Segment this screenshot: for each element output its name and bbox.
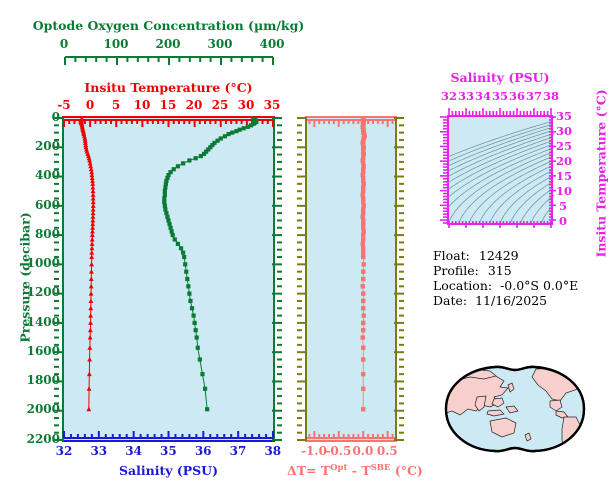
metadata-profile-value: 315	[483, 263, 512, 278]
temperature-tick-8: 35	[259, 98, 285, 112]
dt-axis-title: ΔT= TOpt - TSBE (°C)	[287, 463, 415, 478]
dt-title-part2: - T	[347, 463, 370, 478]
oxygen-tick-0: 0	[51, 37, 77, 51]
metadata-location-value: -0.0°S 0.0°E	[496, 278, 578, 293]
dt-panel-bottom-axis	[305, 440, 397, 442]
ts-salinity-ticklabels: 32 33 34 35 36 37 38	[449, 89, 551, 104]
oxygen-axis-ruler	[64, 55, 274, 67]
metadata-date-label: Date:	[433, 293, 467, 308]
ts-temp-tick-5: 10	[556, 184, 572, 198]
main-profile-traces[interactable]	[64, 118, 273, 440]
ts-temp-tick-1: 30	[556, 124, 572, 138]
oxygen-profile-trace	[162, 117, 258, 412]
dt-profile-trace[interactable]	[307, 118, 395, 440]
salinity-tick-4: 36	[190, 444, 216, 458]
world-map[interactable]	[432, 355, 598, 463]
salinity-axis-title: Salinity (PSU)	[64, 463, 273, 478]
oxygen-tick-1: 100	[103, 37, 129, 51]
dt-tick-3: 0.5	[371, 444, 403, 458]
temperature-axis-ticklabels: -5 0 5 10 15 20 25 30 35	[64, 98, 273, 113]
ts-temp-tick-7: 0	[559, 214, 567, 228]
oxygen-axis-ticklabels: 0 100 200 300 400	[64, 37, 273, 52]
main-profile-panel[interactable]	[64, 118, 273, 440]
salinity-tick-0: 32	[51, 444, 77, 458]
metadata-date-value: 11/16/2025	[471, 293, 547, 308]
oxygen-tick-4: 400	[259, 37, 285, 51]
metadata-profile-label: Profile:	[433, 263, 479, 278]
temperature-tick-3: 10	[129, 98, 155, 112]
ts-temp-tick-4: 15	[556, 169, 572, 183]
temperature-tick-7: 30	[233, 98, 259, 112]
temperature-tick-6: 25	[207, 98, 233, 112]
salinity-axis-ticklabels: 32 33 34 35 36 37 38	[64, 444, 273, 459]
dt-title-sup-sbe: SBE	[371, 463, 391, 473]
ts-temp-tick-0: 35	[556, 109, 572, 123]
metadata-profile-row: Profile: 315	[433, 263, 578, 278]
dt-axis-ticklabels: -1.0 -0.5 0.0 0.5	[307, 444, 395, 459]
delta-t-panel[interactable]	[307, 118, 395, 440]
main-panel-bottom-axis	[62, 440, 275, 442]
pressure-axis-ticks-right	[272, 118, 283, 440]
salinity-tick-5: 37	[225, 444, 251, 458]
salinity-tick-1: 33	[86, 444, 112, 458]
temperature-tick-1: 0	[77, 98, 103, 112]
dt-title-part1: ΔT= T	[287, 463, 330, 478]
metadata-location-label: Location:	[433, 278, 492, 293]
ts-temperature-ticklabels: 35 30 25 20 15 10 5 0	[556, 110, 578, 228]
metadata-date-row: Date: 11/16/2025	[433, 293, 578, 308]
ts-temp-tick-6: 5	[559, 199, 567, 213]
ts-temp-tick-3: 20	[556, 154, 572, 168]
salinity-tick-2: 34	[121, 444, 147, 458]
temperature-tick-2: 5	[103, 98, 129, 112]
ts-axis-ticks	[440, 104, 564, 234]
oxygen-tick-3: 300	[207, 37, 233, 51]
pressure-axis-ticklabels: 0 200 400 600 800 1000 1200 1400 1600 18…	[12, 118, 60, 440]
ts-sal-tick-6: 38	[541, 89, 561, 103]
oxygen-axis-title: Optode Oxygen Concentration (µm/kg)	[30, 18, 307, 33]
dt-pressure-ticks-right	[394, 118, 405, 440]
metadata-block: Float: 12429 Profile: 315 Location: -0.0…	[433, 248, 578, 308]
ts-salinity-title: Salinity (PSU)	[440, 70, 560, 85]
metadata-float-value: 12429	[474, 248, 519, 263]
salinity-tick-3: 35	[155, 444, 181, 458]
temperature-profile-trace	[79, 116, 96, 411]
temperature-tick-5: 20	[181, 98, 207, 112]
dt-title-sup-opt: Opt	[330, 463, 347, 473]
ts-temp-tick-2: 25	[556, 139, 572, 153]
temperature-axis-title: Insitu Temperature (°C)	[64, 80, 273, 95]
metadata-float-row: Float: 12429	[433, 248, 578, 263]
dt-title-part3: (°C)	[390, 463, 422, 478]
metadata-location-row: Location: -0.0°S 0.0°E	[433, 278, 578, 293]
oxygen-tick-2: 200	[155, 37, 181, 51]
salinity-tick-6: 38	[260, 444, 286, 458]
metadata-float-label: Float:	[433, 248, 470, 263]
ts-temperature-title: Insitu Temperature (°C)	[594, 98, 609, 258]
temperature-tick-4: 15	[155, 98, 181, 112]
